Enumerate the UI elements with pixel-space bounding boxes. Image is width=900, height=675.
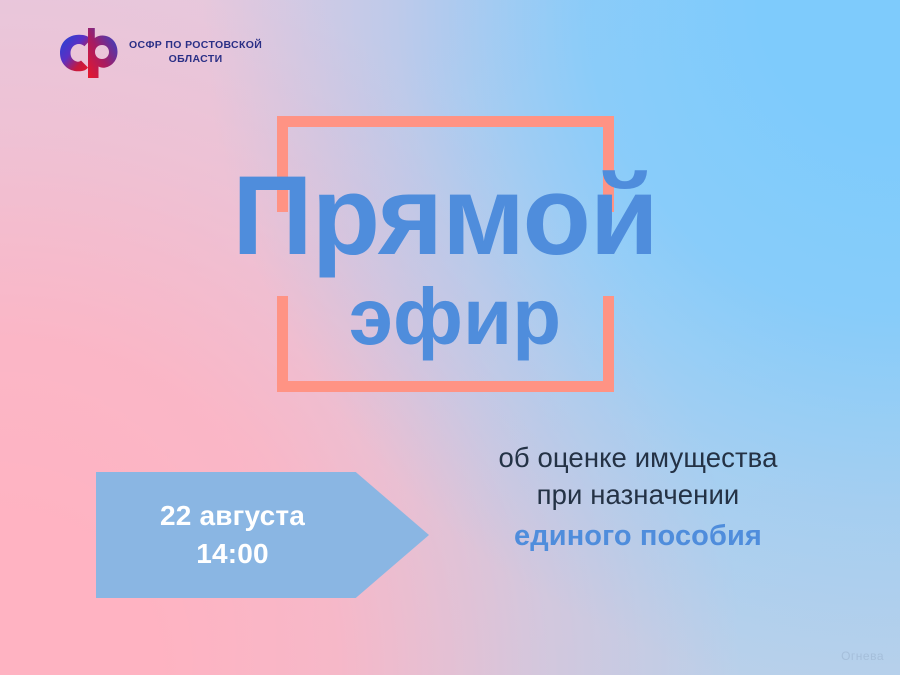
- frame-right-bottom-bar: [603, 296, 614, 392]
- watermark: Огнева: [841, 649, 884, 663]
- frame-right-top-bar: [603, 116, 614, 212]
- decorative-bracket-frame: [277, 116, 614, 392]
- subject-highlight: единого пособия: [438, 517, 838, 556]
- title-line-primary: Прямой: [0, 162, 900, 271]
- page-title: Прямой эфир: [0, 162, 900, 357]
- date-time-badge: 22 августа 14:00: [96, 472, 429, 598]
- frame-left-bottom-bar: [277, 296, 288, 392]
- organisation-name-line2: ОБЛАСТИ: [129, 53, 262, 67]
- live-broadcast-poster: ОСФР ПО РОСТОВСКОЙ ОБЛАСТИ Прямой эфир 2…: [0, 0, 900, 675]
- broadcast-date: 22 августа: [160, 498, 305, 534]
- frame-left-top-bar: [277, 116, 288, 212]
- subject-line-1: об оценке имущества: [438, 440, 838, 477]
- frame-top-bar: [277, 116, 614, 127]
- organisation-name-line1: ОСФР ПО РОСТОВСКОЙ: [129, 39, 262, 51]
- frame-bottom-bar: [277, 381, 614, 392]
- sfr-logo-icon: [57, 26, 119, 80]
- title-line-secondary: эфир: [10, 277, 900, 357]
- header: ОСФР ПО РОСТОВСКОЙ ОБЛАСТИ: [57, 26, 262, 80]
- subject-line-2: при назначении: [438, 477, 838, 514]
- broadcast-time: 14:00: [196, 536, 269, 572]
- broadcast-subject: об оценке имущества при назначении едино…: [438, 440, 838, 556]
- organisation-name: ОСФР ПО РОСТОВСКОЙ ОБЛАСТИ: [129, 39, 262, 67]
